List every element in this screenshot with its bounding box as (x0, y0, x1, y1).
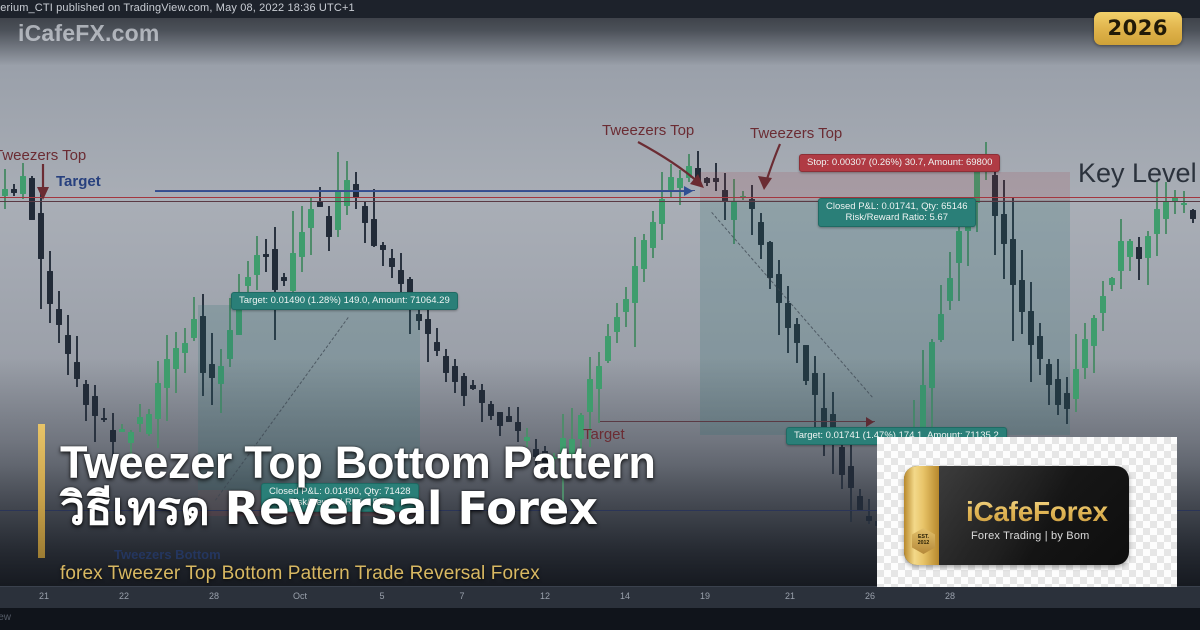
tag-closed-pnl-right-line2: Risk/Reward Ratio: 5.67 (826, 212, 968, 223)
x-axis-tick: 28 (209, 591, 219, 601)
year-badge[interactable]: 2026 (1094, 12, 1182, 45)
label-tweezers-top-left: Tweezers Top (0, 147, 86, 164)
label-tweezers-bottom: Tweezers Bottom (114, 547, 221, 562)
label-tweezers-top-mid: Tweezers Top (602, 122, 694, 139)
lower-target-arrow-head (866, 417, 874, 427)
tag-closed-pnl-right: Closed P&L: 0.01741, Qty: 65146 Risk/Rew… (818, 198, 976, 227)
chart-x-axis: 212228Oct57121419212628 (0, 586, 1200, 609)
page-title-line2: วิธีเทรด Reversal Forex (60, 486, 890, 532)
tag-target-mid: Target: 0.01490 (1.28%) 149.0, Amount: 7… (231, 292, 458, 310)
label-key-level: Key Level (1078, 158, 1197, 189)
logo-brand-name: iCafeForex (966, 496, 1108, 528)
x-axis-tick: 14 (620, 591, 630, 601)
bottom-strip: iew (0, 608, 1200, 630)
page-title-line1: Tweezer Top Bottom Pattern (60, 440, 890, 486)
label-target-blue: Target (56, 173, 101, 190)
tag-stop-right: Stop: 0.00307 (0.26%) 30.7, Amount: 6980… (799, 154, 1000, 172)
x-axis-tick: 7 (459, 591, 464, 601)
tweezers-top-arrow-mid (630, 138, 720, 198)
page-subtitle: forex Tweezer Top Bottom Pattern Trade R… (60, 563, 540, 585)
target-arrow-line (155, 191, 685, 192)
x-axis-tick: 22 (119, 591, 129, 601)
brand-logo-card[interactable]: iCafeForex Forex Trading | by Bom EST. 2… (877, 437, 1177, 587)
title-block: Tweezer Top Bottom Pattern วิธีเทรด Reve… (60, 440, 890, 532)
tradingview-footer-text: iew (0, 612, 11, 623)
est-badge-line2: 2012 (918, 541, 930, 547)
x-axis-tick: 12 (540, 591, 550, 601)
x-axis-tick: 28 (945, 591, 955, 601)
key-level-line-dark (0, 201, 1200, 202)
logo-inner-panel: iCafeForex Forex Trading | by Bom EST. 2… (904, 466, 1129, 565)
x-axis-tick: 21 (39, 591, 49, 601)
x-axis-tick: Oct (293, 591, 307, 601)
logo-tagline: Forex Trading | by Bom (971, 530, 1090, 542)
x-axis-tick: 26 (865, 591, 875, 601)
tag-closed-pnl-right-line1: Closed P&L: 0.01741, Qty: 65146 (826, 201, 968, 212)
key-level-line-red (0, 197, 1200, 198)
label-tweezers-top-right: Tweezers Top (750, 125, 842, 142)
tradingview-attribution-bar: perium_CTI published on TradingView.com,… (0, 0, 1200, 18)
x-axis-tick: 21 (785, 591, 795, 601)
screenshot-root: Tweezers Top Tweezers Top Tweezers Top T… (0, 0, 1200, 630)
lower-target-line (600, 421, 875, 422)
site-watermark: iCafeFX.com (18, 20, 160, 47)
attribution-text: perium_CTI published on TradingView.com,… (0, 2, 355, 14)
trade-zone-right (700, 200, 1070, 435)
x-axis-tick: 5 (379, 591, 384, 601)
x-axis-tick: 19 (700, 591, 710, 601)
title-accent-bar (38, 424, 45, 558)
